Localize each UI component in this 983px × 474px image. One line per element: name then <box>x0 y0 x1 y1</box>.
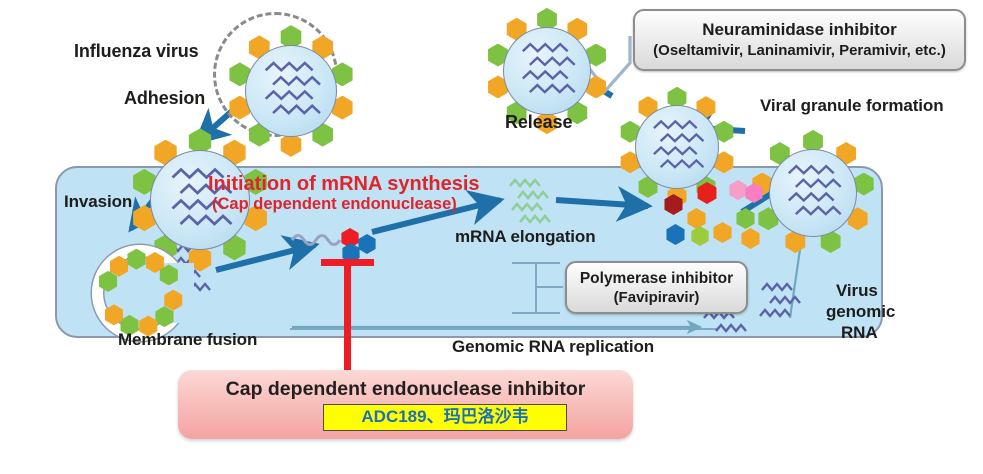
label-virus-genomic-rna-line2: genomic <box>826 302 895 322</box>
polymerase-inhibitor-drugs: (Favipiravir) <box>567 289 746 307</box>
cap-endonuclease-inhibitor-banner[interactable]: Cap dependent endonuclease inhibitor ADC… <box>178 370 633 439</box>
label-membrane-fusion: Membrane fusion <box>118 330 257 350</box>
influenza-replication-diagram: Influenza virus Adhesion Invasion Membra… <box>0 0 983 474</box>
polymerase-inhibitor-box[interactable]: Polymerase inhibitor (Favipiravir) <box>565 261 748 314</box>
neuraminidase-inhibitor-box[interactable]: Neuraminidase inhibitor (Oseltamivir, La… <box>633 9 966 71</box>
neuraminidase-inhibitor-title: Neuraminidase inhibitor <box>635 20 964 40</box>
label-cap-dependent-endonuclease: (Cap dependent endonuclease) <box>212 195 457 214</box>
cap-endonuclease-inhibitor-title: Cap dependent endonuclease inhibitor <box>178 378 633 401</box>
cap-endonuclease-drug-chip: ADC189、玛巴洛沙韦 <box>323 404 567 431</box>
inhibition-stem <box>344 265 351 375</box>
label-release: Release <box>505 112 572 133</box>
label-viral-granule-formation: Viral granule formation <box>760 96 943 116</box>
label-virus-genomic-rna-line1: Virus <box>836 281 878 301</box>
label-adhesion: Adhesion <box>124 88 205 109</box>
inhibition-crossbar <box>321 259 374 266</box>
label-mrna-elongation: mRNA elongation <box>455 227 595 247</box>
neuraminidase-inhibitor-drugs: (Oseltamivir, Laninamivir, Peramivir, et… <box>635 42 964 60</box>
label-virus-genomic-rna-line3: RNA <box>841 323 878 343</box>
label-invasion: Invasion <box>64 192 132 212</box>
polymerase-inhibitor-title: Polymerase inhibitor <box>567 270 746 288</box>
pol-blue-right <box>357 234 377 254</box>
label-genomic-rna-replication: Genomic RNA replication <box>452 337 654 357</box>
label-initiation-mrna-synthesis: Initiation of mRNA synthesis <box>208 173 480 196</box>
label-influenza-virus: Influenza virus <box>74 41 199 62</box>
